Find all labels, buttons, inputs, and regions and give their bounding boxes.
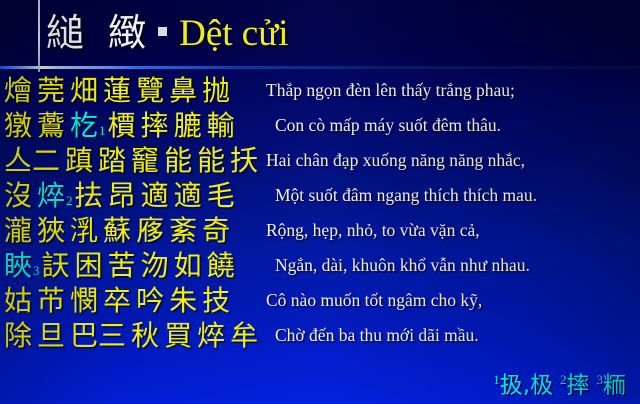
nom-character: 檟 — [108, 109, 136, 142]
nom-character: 憫 — [70, 284, 98, 317]
vietnamese-translation-line: Một suốt đâm ngang thích thích mau. — [266, 179, 640, 212]
page-title: 縋 緻 Dệt cửi — [46, 4, 289, 62]
nom-character: 饒 — [207, 249, 235, 282]
nom-character: 適 — [141, 179, 169, 212]
title-nom-text: 縋 緻 — [46, 14, 152, 52]
nom-character: 沕 — [141, 249, 169, 282]
nom-character: 踏 — [98, 144, 126, 177]
nom-character: 芇 — [37, 284, 65, 317]
poem-line: 姑芇憫卒吟朱技Cô nào muốn tốt ngâm cho kỹ, — [0, 284, 640, 319]
poem-line: 除旦巴三秋買焠牟Chờ đến ba thu mới dãi mầu. — [0, 319, 640, 354]
footnote-characters: 扱,极 — [500, 373, 553, 399]
nom-character: 狹 — [37, 214, 65, 247]
poem-line: 獤鷰杚1檟摔膔輸Con cò mấp máy suốt đêm thâu. — [0, 109, 640, 144]
nom-character: 困 — [75, 249, 103, 282]
nom-script-column: 瀧狹㳶蘇㢋紊奇 — [0, 214, 266, 247]
nom-character: 紊 — [169, 214, 197, 247]
nom-character: 買 — [164, 319, 192, 352]
nom-character: 蓮 — [103, 74, 131, 107]
nom-character: 適 — [174, 179, 202, 212]
nom-character: 牟 — [230, 319, 258, 352]
nom-character: 苦 — [108, 249, 136, 282]
nom-character: 輸 — [207, 109, 235, 142]
nom-character: 技 — [202, 284, 230, 317]
vietnamese-translation-line: Hai chân đạp xuống năng năng nhắc, — [266, 144, 640, 177]
nom-character: 杚 — [70, 109, 98, 142]
vietnamese-translation-line: Con cò mấp máy suốt đêm thâu. — [266, 109, 640, 142]
nom-character: 沒 — [4, 179, 32, 212]
nom-character: 除 — [4, 319, 32, 352]
nom-character: 昂 — [108, 179, 136, 212]
poem-line: 䀹3䚶困苦沕如饒Ngắn, dài, khuôn khổ vẫn như nha… — [0, 249, 640, 284]
nom-character: 能 — [197, 144, 225, 177]
nom-character: 朱 — [169, 284, 197, 317]
poem-couplet: 燴莞畑蓮覽鼻抛Thắp ngọn đèn lên thấy trắng phau… — [0, 74, 640, 144]
nom-character: 膔 — [174, 109, 202, 142]
nom-character: 抛 — [202, 74, 230, 107]
footnote-row: 1扱,极2摔3粫 — [493, 366, 626, 400]
nom-character: 㳶 — [70, 214, 98, 247]
nom-character: 焠 — [37, 179, 65, 212]
footnote-marker: 3 — [33, 264, 40, 277]
footnote-marker: 2 — [66, 194, 73, 207]
title-vietnamese-text: Dệt cửi — [179, 15, 288, 52]
vietnamese-translation-line: Chờ đến ba thu mới dãi mầu. — [266, 319, 640, 352]
nom-character: 㢋 — [136, 214, 164, 247]
nom-character: 覽 — [136, 74, 164, 107]
nom-character: 畑 — [70, 74, 98, 107]
nom-character: 卒 — [103, 284, 131, 317]
nom-script-column: 沒焠2抾昂適適毛 — [0, 179, 266, 212]
vietnamese-translation-line: Cô nào muốn tốt ngâm cho kỹ, — [266, 284, 640, 317]
poem-line: 亼二蹎踏竉能能扷Hai chân đạp xuống năng năng nhắ… — [0, 144, 640, 179]
nom-character: 亼二 — [4, 144, 60, 177]
nom-character: 䚶 — [42, 249, 70, 282]
nom-character: 瀧 — [4, 214, 32, 247]
poem-body: 燴莞畑蓮覽鼻抛Thắp ngọn đèn lên thấy trắng phau… — [0, 74, 640, 354]
nom-character: 竉 — [131, 144, 159, 177]
nom-character: 吟 — [136, 284, 164, 317]
square-bullet-icon — [158, 27, 167, 36]
nom-script-column: 亼二蹎踏竉能能扷 — [0, 144, 266, 177]
poem-line: 沒焠2抾昂適適毛Một suốt đâm ngang thích thích m… — [0, 179, 640, 214]
nom-character: 燴 — [4, 74, 32, 107]
nom-character: 旦 — [37, 319, 65, 352]
nom-character: 獤 — [4, 109, 32, 142]
title-divider-rule — [0, 66, 640, 69]
footnote-characters: 摔 — [567, 373, 590, 399]
nom-character: 鷰 — [37, 109, 65, 142]
vietnamese-translation-line: Rộng, hẹp, nhỏ, to vừa vặn cả, — [266, 214, 640, 247]
nom-character: 蹎 — [65, 144, 93, 177]
nom-character: 巴三 — [70, 319, 126, 352]
poem-couplet: 瀧狹㳶蘇㢋紊奇Rộng, hẹp, nhỏ, to vừa vặn cả,䀹3䚶… — [0, 214, 640, 284]
nom-script-column: 姑芇憫卒吟朱技 — [0, 284, 266, 317]
nom-character: 秋 — [131, 319, 159, 352]
nom-character: 毛 — [207, 179, 235, 212]
nom-character: 扷 — [230, 144, 258, 177]
nom-character: 能 — [164, 144, 192, 177]
vietnamese-translation-line: Thắp ngọn đèn lên thấy trắng phau; — [266, 74, 640, 107]
poem-line: 燴莞畑蓮覽鼻抛Thắp ngọn đèn lên thấy trắng phau… — [0, 74, 640, 109]
nom-character: 抾 — [75, 179, 103, 212]
nom-script-column: 獤鷰杚1檟摔膔輸 — [0, 109, 266, 142]
poem-couplet: 姑芇憫卒吟朱技Cô nào muốn tốt ngâm cho kỹ,除旦巴三秋… — [0, 284, 640, 354]
poem-couplet: 亼二蹎踏竉能能扷Hai chân đạp xuống năng năng nhắ… — [0, 144, 640, 214]
title-accent-vertical-line — [38, 0, 40, 72]
nom-character: 摔 — [141, 109, 169, 142]
nom-character: 蘇 — [103, 214, 131, 247]
nom-character: 䀹 — [4, 249, 32, 282]
nom-script-column: 䀹3䚶困苦沕如饒 — [0, 249, 266, 282]
nom-character: 奇 — [202, 214, 230, 247]
nom-script-column: 除旦巴三秋買焠牟 — [0, 319, 266, 352]
nom-script-column: 燴莞畑蓮覽鼻抛 — [0, 74, 266, 107]
nom-character: 姑 — [4, 284, 32, 317]
nom-character: 鼻 — [169, 74, 197, 107]
vietnamese-translation-line: Ngắn, dài, khuôn khổ vẫn như nhau. — [266, 249, 640, 282]
poem-line: 瀧狹㳶蘇㢋紊奇Rộng, hẹp, nhỏ, to vừa vặn cả, — [0, 214, 640, 249]
nom-character: 莞 — [37, 74, 65, 107]
slide-canvas: 縋 緻 Dệt cửi 燴莞畑蓮覽鼻抛Thắp ngọn đèn lên thấ… — [0, 0, 640, 404]
nom-character: 如 — [174, 249, 202, 282]
nom-character: 焠 — [197, 319, 225, 352]
footnote-marker: 1 — [99, 124, 106, 137]
footnote-characters: 粫 — [603, 373, 626, 399]
